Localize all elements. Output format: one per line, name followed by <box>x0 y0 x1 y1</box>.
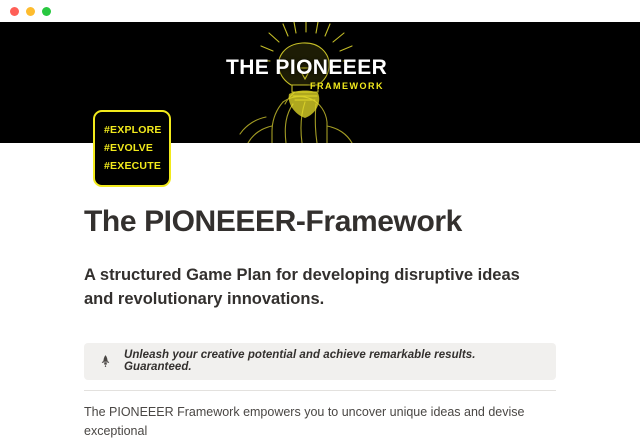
minimize-window-button[interactable] <box>26 7 35 16</box>
body-paragraph: The PIONEEER Framework empowers you to u… <box>84 391 556 442</box>
hero-banner: THE PIONEEER FRAMEWORK #EXPLORE #EVOLVE … <box>0 22 640 143</box>
hashtag-item-evolve: #EVOLVE <box>104 139 169 157</box>
callout-box: Unleash your creative potential and achi… <box>84 343 556 380</box>
logo-subtitle: FRAMEWORK <box>310 81 384 91</box>
hashtag-item-explore: #EXPLORE <box>104 121 169 139</box>
main-content: The PIONEEER-Framework A structured Game… <box>0 143 640 442</box>
callout-text: Unleash your creative potential and achi… <box>124 349 542 373</box>
close-window-button[interactable] <box>10 7 19 16</box>
rocket-icon <box>98 353 112 369</box>
hashtag-card: #EXPLORE #EVOLVE #EXECUTE <box>93 110 171 187</box>
window-title-bar <box>0 0 640 22</box>
maximize-window-button[interactable] <box>42 7 51 16</box>
page-subtitle: A structured Game Plan for developing di… <box>84 238 534 312</box>
traffic-lights <box>10 7 51 16</box>
brand-logo: THE PIONEEER FRAMEWORK <box>226 57 426 78</box>
logo-title: THE PIONEEER <box>226 57 426 78</box>
hashtag-item-execute: #EXECUTE <box>104 157 169 175</box>
